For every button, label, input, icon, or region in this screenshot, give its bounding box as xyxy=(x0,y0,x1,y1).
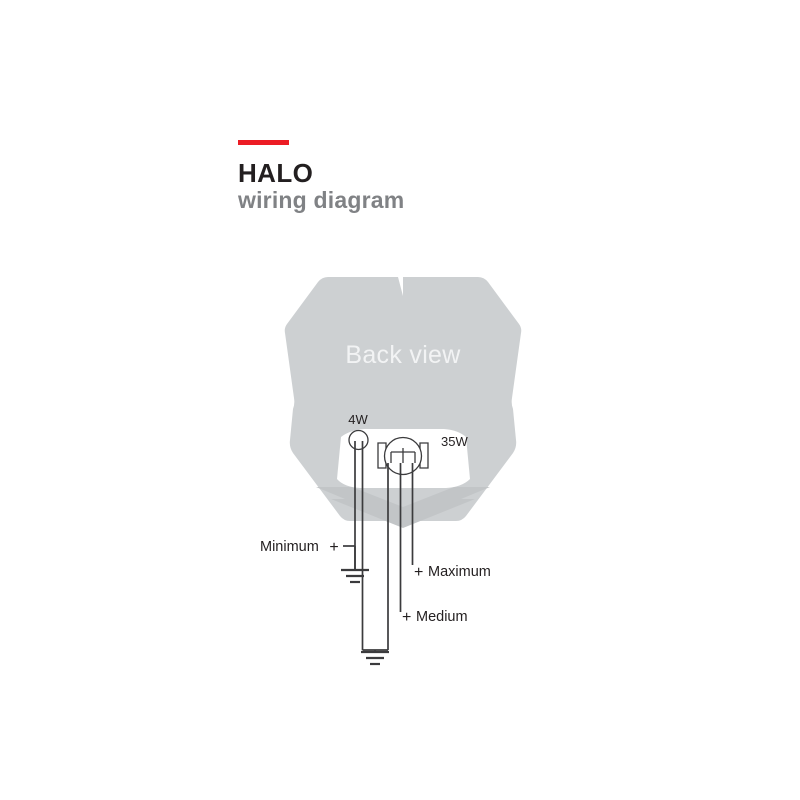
connection-medium-group: + Medium xyxy=(402,609,468,626)
connection-maximum-plus: + xyxy=(414,564,423,581)
diagram-page: HALO wiring diagram Back view 4W 35W xyxy=(0,0,800,800)
connection-minimum-label: Minimum xyxy=(260,539,319,555)
connection-medium-label: Medium xyxy=(416,609,468,625)
bulb-4w-label: 4W xyxy=(348,412,368,427)
wiring-diagram-graphic: Back view 4W 35W xyxy=(0,0,800,800)
connection-minimum-plus: + xyxy=(329,539,338,556)
connection-maximum-label: Maximum xyxy=(428,564,491,580)
bulb-35w-label: 35W xyxy=(441,434,468,449)
headlight-shroud-group: Back view xyxy=(285,277,522,528)
back-view-label: Back view xyxy=(345,341,461,369)
connection-maximum-group: + Maximum xyxy=(414,564,491,581)
ground-lower-symbol xyxy=(361,650,389,664)
connection-medium-plus: + xyxy=(402,609,411,626)
connection-minimum-group: Minimum + xyxy=(260,539,355,556)
ground-upper-symbol xyxy=(341,546,369,582)
bulb-4w-envelope xyxy=(349,431,368,450)
